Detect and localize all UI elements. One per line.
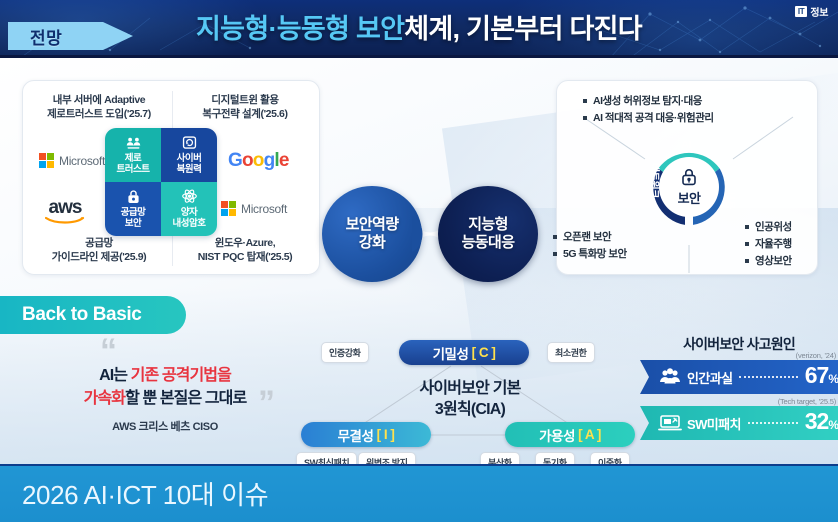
cyber-resilience-icon [181, 135, 198, 151]
header-bar: 전망 지능형·능동형 보안체계, 기본부터 다진다 IT 정보 [0, 0, 838, 58]
quote-text: AI는 기존 공격기법을가속화할 뿐 본질은 그대로 [30, 364, 300, 410]
main-canvas: 내부 서버에 Adaptive 제로트러스트 도입('25.7) 디지털트윈 활… [0, 58, 838, 464]
brand-logo: IT 정보 [795, 4, 828, 18]
tag-redundancy[interactable]: 이중화 [590, 452, 630, 464]
tag-least-privilege[interactable]: 최소권한 [547, 342, 595, 363]
stat-dots-2 [748, 422, 798, 424]
cia-pill-availability[interactable]: 가용성 [ A ] [505, 422, 635, 447]
vendor-google: Google [228, 151, 289, 171]
list-item: 5G 특화망 보안 [553, 246, 627, 263]
cia-pill-availability-letter: [ A ] [578, 427, 601, 442]
list-item: 오픈랜 보안 [553, 229, 627, 246]
stat-label-human-error: 인간과실 [687, 368, 732, 387]
aws-smile-arc-icon [45, 216, 85, 225]
quadrant-cell-zero-trust[interactable]: 제로트러스트 [105, 128, 161, 182]
list-item: 자율주행 [745, 236, 792, 253]
quadrant-label-cyber-resilience: 사이버복원력 [177, 153, 202, 175]
cia-pill-confidentiality[interactable]: 기밀성 [ C ] [399, 340, 529, 365]
caption-bottom-right-line2: NIST PQC 탑재('25.5) [175, 250, 315, 264]
right-panel: AI생성 허위정보 탐지·대응 AI 적대적 공격 대응·위험관리 [556, 80, 818, 275]
infinity-lobe-left-label: 보안역량강화 [346, 216, 399, 252]
laptop-patch-icon [658, 413, 682, 433]
aws-logo-icon: aws [45, 199, 85, 225]
quadrant-label-supply-chain: 공급망보안 [121, 207, 146, 229]
stat-dots-1 [739, 376, 797, 378]
list-item: AI생성 허위정보 탐지·대응 [583, 93, 714, 110]
stat-row-unpatched-sw: SW미패치 32% [640, 406, 838, 440]
back-to-basic-section: Back to Basic “ ” AI는 기존 공격기법을가속화할 뿐 본질은… [0, 296, 838, 464]
caption-bottom-left-line1: 공급망 [29, 236, 169, 250]
caption-top-left-line1: 내부 서버에 Adaptive [29, 93, 169, 107]
stats-source-1: (verizon, '24) [796, 351, 836, 360]
top-row: 내부 서버에 Adaptive 제로트러스트 도입('25.7) 디지털트윈 활… [0, 58, 838, 290]
aws-logo-text: aws [49, 199, 82, 217]
microsoft-logo-icon [39, 153, 54, 168]
stat-row-human-error: 인간과실 67% [640, 360, 838, 394]
cia-pill-confidentiality-letter: [ C ] [472, 345, 496, 360]
tag-sync[interactable]: 동기화 [535, 452, 575, 464]
google-logo-icon: Google [228, 151, 289, 171]
page-title-highlight: 지능형·능동형 보안 [196, 14, 404, 44]
supply-chain-lock-icon [125, 189, 142, 205]
infinity-diagram: 보안역량강화 지능형능동대응 [316, 186, 544, 282]
footer-bar: 2026 AI·ICT 10대 이슈 [0, 464, 838, 522]
quote-attribution: AWS 크리스 베츠 CISO [30, 418, 300, 434]
donut-segment-label-ai: AI [681, 139, 691, 151]
infographic-page: 전망 지능형·능동형 보안체계, 기본부터 다진다 IT 정보 내부 서버에 A… [0, 0, 838, 522]
quote-open-mark: “ [100, 342, 115, 360]
left-panel: 내부 서버에 Adaptive 제로트러스트 도입('25.7) 디지털트윈 활… [22, 80, 320, 275]
cia-triangle-diagram: 기밀성 [ C ] 무결성 [ I ] 가용성 [ A ] 사이버보안 기본 3… [305, 340, 635, 458]
list-item: 인공위성 [745, 219, 792, 236]
vendor-microsoft-top-left: Microsoft [39, 153, 105, 168]
tag-distribution[interactable]: 분산화 [480, 452, 520, 464]
footer-label: 2026 AI·ICT 10대 이슈 [22, 475, 268, 512]
vendor-microsoft-bottom-right: Microsoft [221, 201, 287, 216]
infinity-lobe-right-label: 지능형능동대응 [462, 216, 515, 252]
cia-pill-confidentiality-name: 기밀성 [433, 343, 469, 363]
stat-label-unpatched-sw: SW미패치 [687, 414, 741, 433]
cia-title-line1: 사이버보안 기본 [360, 378, 580, 399]
list-item: AI 적대적 공격 대응·위험관리 [583, 110, 714, 127]
microsoft-logo-text-2: Microsoft [241, 202, 287, 216]
cia-pill-availability-name: 가용성 [539, 425, 575, 445]
caption-top-left-line2: 제로트러스트 도입('25.7) [29, 107, 169, 121]
page-title-rest: 체계, 기본부터 다진다 [404, 14, 642, 44]
back-to-basic-label: Back to Basic [22, 304, 141, 326]
infinity-lobe-right: 지능형능동대응 [438, 186, 538, 282]
quote-line1-plain: AI는 [99, 367, 131, 384]
microsoft-logo-icon-2 [221, 201, 236, 216]
brand-logo-mark: IT [795, 6, 808, 17]
infinity-lobe-left: 보안역량강화 [322, 186, 422, 282]
security-donut-chart: 보안 AI 네트워크 융합 [635, 133, 743, 241]
microsoft-logo-text: Microsoft [59, 154, 105, 168]
quote-line2-plain: 할 뿐 본질은 그대로 [125, 390, 246, 407]
tag-forgery[interactable]: 위변조 방지 [358, 452, 416, 464]
donut-segment-label-convergence: 융합 [722, 192, 737, 210]
caption-bottom-left-line2: 가이드라인 제공('25.9) [29, 250, 169, 264]
cia-pill-integrity[interactable]: 무결성 [ I ] [301, 422, 431, 447]
quote-line2-highlight: 가속화 [84, 390, 125, 407]
footer-top-divider [0, 464, 838, 466]
quote-line1-highlight: 기존 공격기법을 [131, 367, 231, 384]
people-icon [658, 367, 682, 387]
quadrant-cell-quantum-crypto[interactable]: 양자내성암호 [161, 182, 217, 236]
caption-top-right: 디지털트윈 활용 복구전략 설계('25.6) [175, 93, 315, 121]
security-quadrant-grid: 제로트러스트 사이버복원력 [105, 128, 217, 236]
quadrant-label-zero-trust: 제로트러스트 [117, 153, 150, 175]
tag-patch[interactable]: SW최신패치 [296, 452, 357, 464]
bullet-list-bottom-right: 인공위성 자율주행 영상보안 [745, 219, 792, 270]
caption-bottom-left: 공급망 가이드라인 제공('25.9) [29, 236, 169, 264]
tag-auth[interactable]: 인증강화 [321, 342, 369, 363]
stats-source-2: (Tech target, '25.5) [778, 397, 836, 406]
donut-center: 보안 [659, 157, 719, 217]
quadrant-cell-supply-chain[interactable]: 공급망보안 [105, 182, 161, 236]
bullet-list-top: AI생성 허위정보 탐지·대응 AI 적대적 공격 대응·위험관리 [583, 93, 714, 127]
caption-top-right-line2: 복구전략 설계('25.6) [175, 107, 315, 121]
stat-value-human-error: 67% [805, 364, 838, 391]
quantum-crypto-icon [181, 189, 198, 205]
caption-bottom-right: 윈도우·Azure, NIST PQC 탑재('25.5) [175, 236, 315, 264]
back-to-basic-tab: Back to Basic [0, 296, 186, 334]
list-item: 영상보안 [745, 253, 792, 270]
bullet-list-bottom-left: 오픈랜 보안 5G 특화망 보안 [553, 229, 627, 263]
cia-title-line2: 3원칙(CIA) [360, 399, 580, 420]
cia-pill-integrity-letter: [ I ] [377, 427, 395, 442]
donut-center-label: 보안 [678, 188, 701, 207]
caption-bottom-right-line1: 윈도우·Azure, [175, 236, 315, 250]
caption-top-right-line1: 디지털트윈 활용 [175, 93, 315, 107]
caption-top-left: 내부 서버에 Adaptive 제로트러스트 도입('25.7) [29, 93, 169, 121]
lock-icon [679, 167, 699, 187]
stat-value-unpatched-sw: 32% [805, 410, 838, 437]
vendor-aws: aws [45, 199, 85, 225]
zero-trust-icon [125, 135, 142, 151]
stats-section: 사이버보안 사고원인 (verizon, '24) (Tech target, … [640, 334, 838, 454]
cia-title: 사이버보안 기본 3원칙(CIA) [360, 378, 580, 420]
badge-outlook-label: 전망 [30, 24, 62, 49]
donut-segment-label-network: 네트워크 [648, 163, 663, 198]
quadrant-label-quantum-crypto: 양자내성암호 [173, 207, 206, 229]
brand-logo-text: 정보 [810, 4, 828, 19]
cia-pill-integrity-name: 무결성 [338, 425, 374, 445]
page-title: 지능형·능동형 보안체계, 기본부터 다진다 [0, 12, 838, 46]
quadrant-cell-cyber-resilience[interactable]: 사이버복원력 [161, 128, 217, 182]
